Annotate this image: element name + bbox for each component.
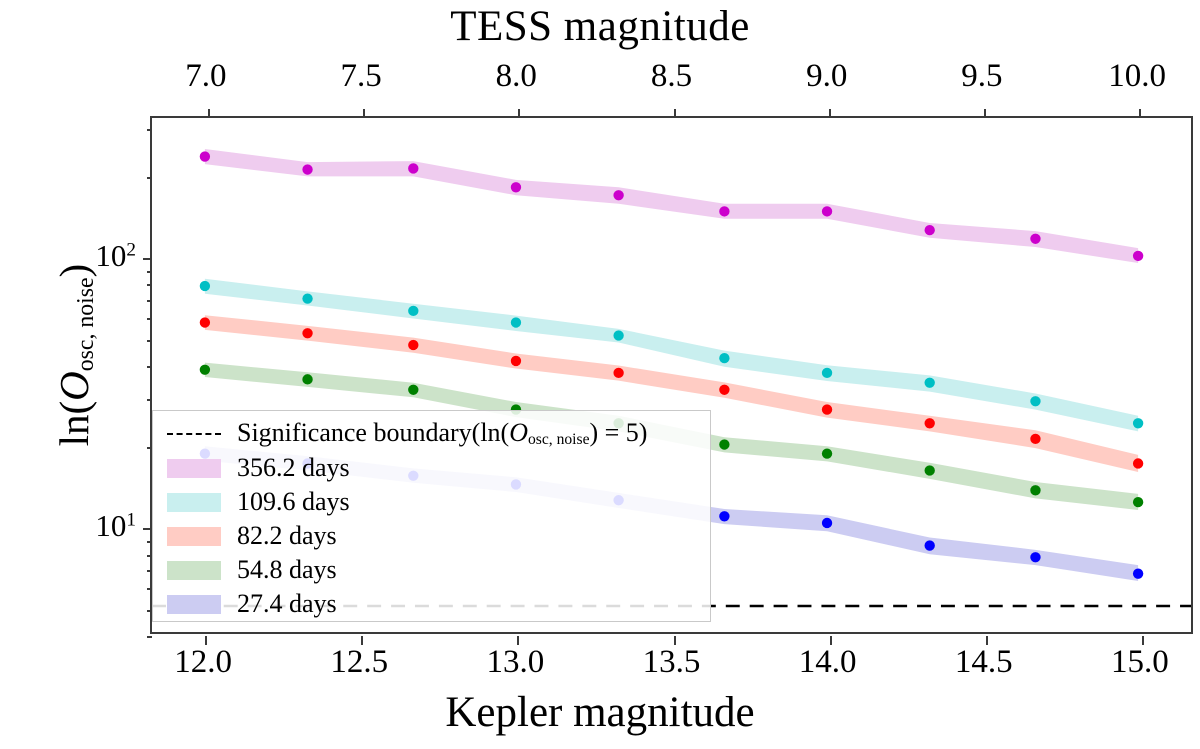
legend-item-82-2-days[interactable]: 82.2 days xyxy=(165,519,700,553)
legend-color-swatch xyxy=(165,587,223,621)
bottom-tick-label: 15.0 xyxy=(1111,644,1169,681)
y-axis-title-subscript: osc, noise xyxy=(73,278,99,372)
legend-series-items: 356.2 days109.6 days82.2 days54.8 days27… xyxy=(165,451,700,621)
legend-label: 356.2 days xyxy=(237,453,350,483)
top-axis-title: TESS magnitude xyxy=(0,2,1200,51)
legend-color-swatch xyxy=(165,485,223,519)
legend-color-swatch xyxy=(165,553,223,587)
data-point-marker[interactable] xyxy=(1133,497,1143,507)
data-point-marker[interactable] xyxy=(200,151,210,161)
top-tick-label: 9.5 xyxy=(961,58,1002,95)
top-tick-label: 7.0 xyxy=(185,58,226,95)
y-axis-major-tick xyxy=(143,528,152,530)
y-axis-title: ln(Oosc, noise) xyxy=(50,135,100,575)
data-point-marker[interactable] xyxy=(822,448,832,458)
y-axis-minor-tick xyxy=(147,284,152,286)
data-point-marker[interactable] xyxy=(613,330,623,340)
data-point-marker[interactable] xyxy=(822,404,832,414)
data-point-marker[interactable] xyxy=(925,465,935,475)
bottom-axis-tick xyxy=(205,636,207,645)
legend-item-27-4-days[interactable]: 27.4 days xyxy=(165,587,700,621)
legend-label: 82.2 days xyxy=(237,521,337,551)
data-point-marker[interactable] xyxy=(511,182,521,192)
data-point-marker[interactable] xyxy=(511,356,521,366)
data-point-marker[interactable] xyxy=(1133,569,1143,579)
y-axis-minor-tick xyxy=(147,271,152,273)
bottom-axis-tick xyxy=(830,636,832,645)
legend-item-109-6-days[interactable]: 109.6 days xyxy=(165,485,700,519)
bottom-tick-label: 12.0 xyxy=(174,644,232,681)
data-point-marker[interactable] xyxy=(1030,552,1040,562)
y-axis-title-prefix: ln( xyxy=(51,401,97,447)
data-point-marker[interactable] xyxy=(1030,396,1040,406)
bottom-tick-label: 12.5 xyxy=(330,644,388,681)
data-point-marker[interactable] xyxy=(1133,251,1143,261)
data-point-marker[interactable] xyxy=(302,293,312,303)
data-point-marker[interactable] xyxy=(613,368,623,378)
data-point-marker[interactable] xyxy=(511,317,521,327)
bottom-axis-tick xyxy=(986,636,988,645)
top-axis-tick xyxy=(208,109,210,118)
bottom-tick-label: 13.5 xyxy=(643,644,701,681)
bottom-axis-tick xyxy=(361,636,363,645)
top-tick-label: 8.0 xyxy=(496,58,537,95)
top-axis-tick xyxy=(1139,109,1141,118)
legend-dash-swatch xyxy=(165,417,223,451)
data-point-marker[interactable] xyxy=(302,328,312,338)
data-point-marker[interactable] xyxy=(719,353,729,363)
data-point-marker[interactable] xyxy=(408,163,418,173)
y-tick-label: 101 xyxy=(95,508,136,544)
top-axis-tick xyxy=(674,109,676,118)
data-point-marker[interactable] xyxy=(719,206,729,216)
data-point-marker[interactable] xyxy=(200,317,210,327)
data-point-marker[interactable] xyxy=(408,385,418,395)
top-tick-label: 8.5 xyxy=(651,58,692,95)
legend-color-swatch xyxy=(165,451,223,485)
top-axis-tick xyxy=(984,109,986,118)
y-axis-minor-tick xyxy=(147,129,152,131)
y-axis-minor-tick xyxy=(147,340,152,342)
top-tick-label: 7.5 xyxy=(340,58,381,95)
legend-label: 54.8 days xyxy=(237,555,337,585)
series-band-0 xyxy=(205,149,1138,263)
data-point-marker[interactable] xyxy=(822,368,832,378)
y-axis-minor-tick xyxy=(147,366,152,368)
bottom-axis-title: Kepler magnitude xyxy=(0,688,1200,737)
y-tick-label: 102 xyxy=(95,238,136,274)
y-axis-minor-tick xyxy=(147,300,152,302)
y-axis-minor-tick xyxy=(147,318,152,320)
legend-item-54-8-days[interactable]: 54.8 days xyxy=(165,553,700,587)
bottom-tick-label: 14.5 xyxy=(955,644,1013,681)
data-point-marker[interactable] xyxy=(302,374,312,384)
y-axis-major-tick xyxy=(143,258,152,260)
data-point-marker[interactable] xyxy=(408,340,418,350)
legend-color-swatch xyxy=(165,519,223,553)
data-point-marker[interactable] xyxy=(200,281,210,291)
data-point-marker[interactable] xyxy=(719,385,729,395)
data-point-marker[interactable] xyxy=(822,206,832,216)
y-axis-minor-tick xyxy=(147,177,152,179)
chart-legend[interactable]: Significance boundary(ln(Oosc, noise) = … xyxy=(152,410,711,622)
figure-canvas: TESS magnitude ln(Oosc, noise) Kepler ma… xyxy=(0,0,1200,749)
y-axis-minor-tick xyxy=(147,399,152,401)
bottom-axis-tick xyxy=(1142,636,1144,645)
data-point-marker[interactable] xyxy=(613,190,623,200)
y-axis-title-symbol: O xyxy=(51,371,97,401)
top-axis-tick xyxy=(363,109,365,118)
data-point-marker[interactable] xyxy=(200,365,210,375)
legend-item-significance-boundary[interactable]: Significance boundary(ln(Oosc, noise) = … xyxy=(165,417,700,451)
data-point-marker[interactable] xyxy=(1133,458,1143,468)
bottom-tick-label: 13.0 xyxy=(486,644,544,681)
data-point-marker[interactable] xyxy=(1030,485,1040,495)
data-point-marker[interactable] xyxy=(408,306,418,316)
legend-label: 27.4 days xyxy=(237,589,337,619)
y-axis-title-suffix: ) xyxy=(51,264,97,278)
data-point-marker[interactable] xyxy=(1030,234,1040,244)
data-point-marker[interactable] xyxy=(925,418,935,428)
top-axis-tick xyxy=(518,109,520,118)
top-tick-label: 9.0 xyxy=(806,58,847,95)
data-point-marker[interactable] xyxy=(1133,418,1143,428)
data-point-marker[interactable] xyxy=(822,518,832,528)
legend-item-356-2-days[interactable]: 356.2 days xyxy=(165,451,700,485)
bottom-axis-tick xyxy=(674,636,676,645)
data-point-marker[interactable] xyxy=(302,164,312,174)
top-axis-tick xyxy=(829,109,831,118)
data-point-marker[interactable] xyxy=(719,439,729,449)
series-band-1 xyxy=(205,279,1138,432)
data-point-marker[interactable] xyxy=(925,378,935,388)
data-point-marker[interactable] xyxy=(925,540,935,550)
legend-label-significance-boundary: Significance boundary(ln(Oosc, noise) = … xyxy=(237,418,647,449)
top-tick-label: 10.0 xyxy=(1108,58,1166,95)
legend-label: 109.6 days xyxy=(237,487,350,517)
bottom-tick-label: 14.0 xyxy=(799,644,857,681)
y-axis-minor-tick xyxy=(147,636,152,638)
data-point-marker[interactable] xyxy=(925,225,935,235)
bottom-axis-tick xyxy=(517,636,519,645)
data-point-marker[interactable] xyxy=(1030,434,1040,444)
data-point-marker[interactable] xyxy=(719,511,729,521)
